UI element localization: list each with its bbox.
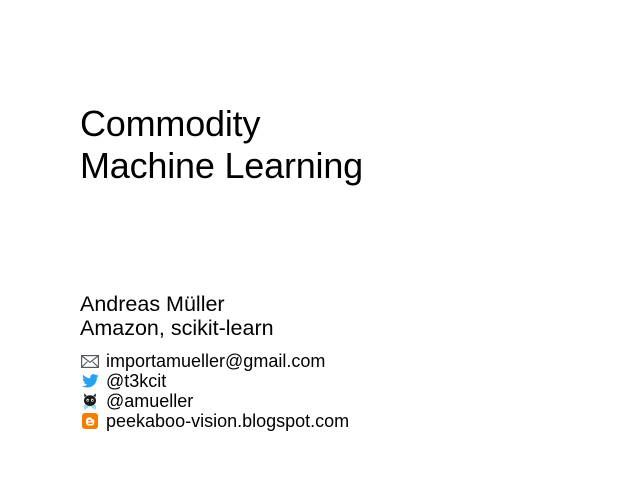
contact-blog[interactable]: peekaboo-vision.blogspot.com [106,411,349,431]
contact-email[interactable]: importamueller@gmail.com [106,351,325,371]
title-line-2: Machine Learning [80,145,363,187]
twitter-bird-icon [80,372,100,390]
contact-row-blog: peekaboo-vision.blogspot.com [80,411,349,431]
contact-twitter[interactable]: @t3kcit [106,371,166,391]
contact-row-email: importamueller@gmail.com [80,351,349,371]
contact-row-github: @amueller [80,391,349,411]
contact-github[interactable]: @amueller [106,391,193,411]
blogger-icon [80,412,100,430]
author-block: Andreas Müller Amazon, scikit-learn [80,292,274,340]
contact-list: importamueller@gmail.com @t3kcit [80,351,349,431]
title-slide: Commodity Machine Learning Andreas Mülle… [0,0,640,481]
github-octocat-icon [80,392,100,410]
envelope-icon [80,352,100,370]
title-line-1: Commodity [80,103,363,145]
blogger-badge [82,413,98,429]
author-affiliation: Amazon, scikit-learn [80,316,274,340]
page-title: Commodity Machine Learning [80,103,363,187]
author-name: Andreas Müller [80,292,274,316]
contact-row-twitter: @t3kcit [80,371,349,391]
